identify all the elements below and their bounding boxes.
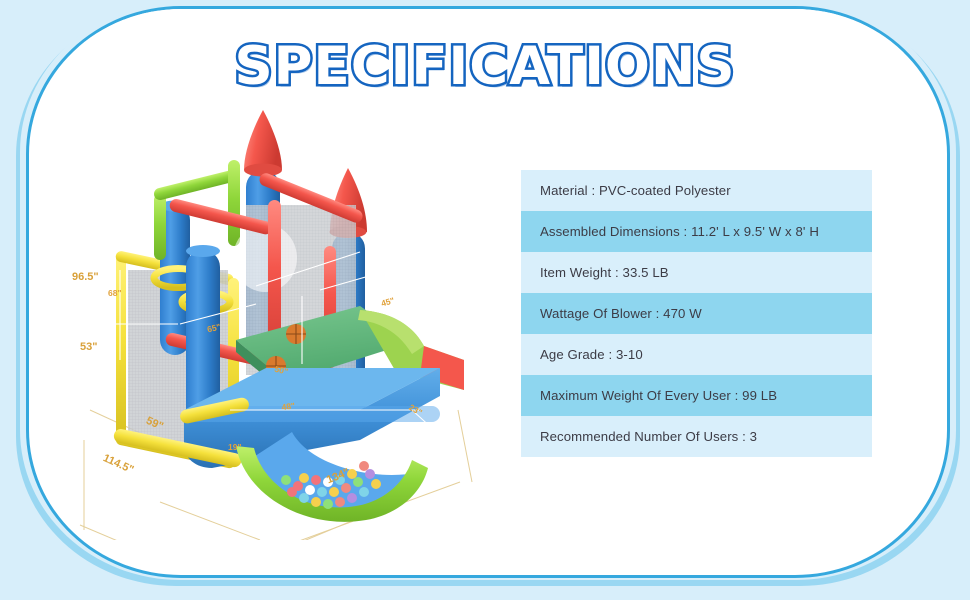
spec-text: Item Weight : 33.5 LB (540, 265, 669, 280)
dimension-net-wall-height: 53" (80, 341, 97, 353)
dimension-slide-height: 45" (380, 295, 396, 308)
dimension-ball-pit-width: 48" (281, 400, 296, 412)
spec-text: Wattage Of Blower : 470 W (540, 306, 702, 321)
dimension-hoop-height: 68" (108, 288, 122, 298)
table-row: Item Weight : 33.5 LB (521, 252, 872, 293)
spec-text: Maximum Weight Of Every User : 99 LB (540, 388, 777, 403)
dimension-diagonal-depth: 114.5" (101, 452, 135, 476)
table-row: Material : PVC-coated Polyester (521, 170, 872, 211)
spec-text: Age Grade : 3-10 (540, 347, 643, 362)
table-row: Maximum Weight Of Every User : 99 LB (521, 375, 872, 416)
spec-text: Recommended Number Of Users : 3 (540, 429, 757, 444)
table-row: Age Grade : 3-10 (521, 334, 872, 375)
table-row: Wattage Of Blower : 470 W (521, 293, 872, 334)
spec-text: Material : PVC-coated Polyester (540, 183, 731, 198)
table-row: Recommended Number Of Users : 3 (521, 416, 872, 457)
product-illustration: 96.5" 53" 59" 114.5" 134" 68" 65" 45" 50… (60, 110, 500, 540)
spec-text: Assembled Dimensions : 11.2' L x 9.5' W … (540, 224, 819, 239)
dimension-ball-pit-wall-height: 19" (228, 442, 242, 452)
specifications-table: Material : PVC-coated Polyester Assemble… (521, 170, 872, 457)
table-row: Assembled Dimensions : 11.2' L x 9.5' W … (521, 211, 872, 252)
page-title-text: SPECIFICATIONS (234, 36, 735, 97)
page-title: SPECIFICATIONS (0, 36, 970, 97)
dimension-total-height: 96.5" (72, 271, 99, 283)
